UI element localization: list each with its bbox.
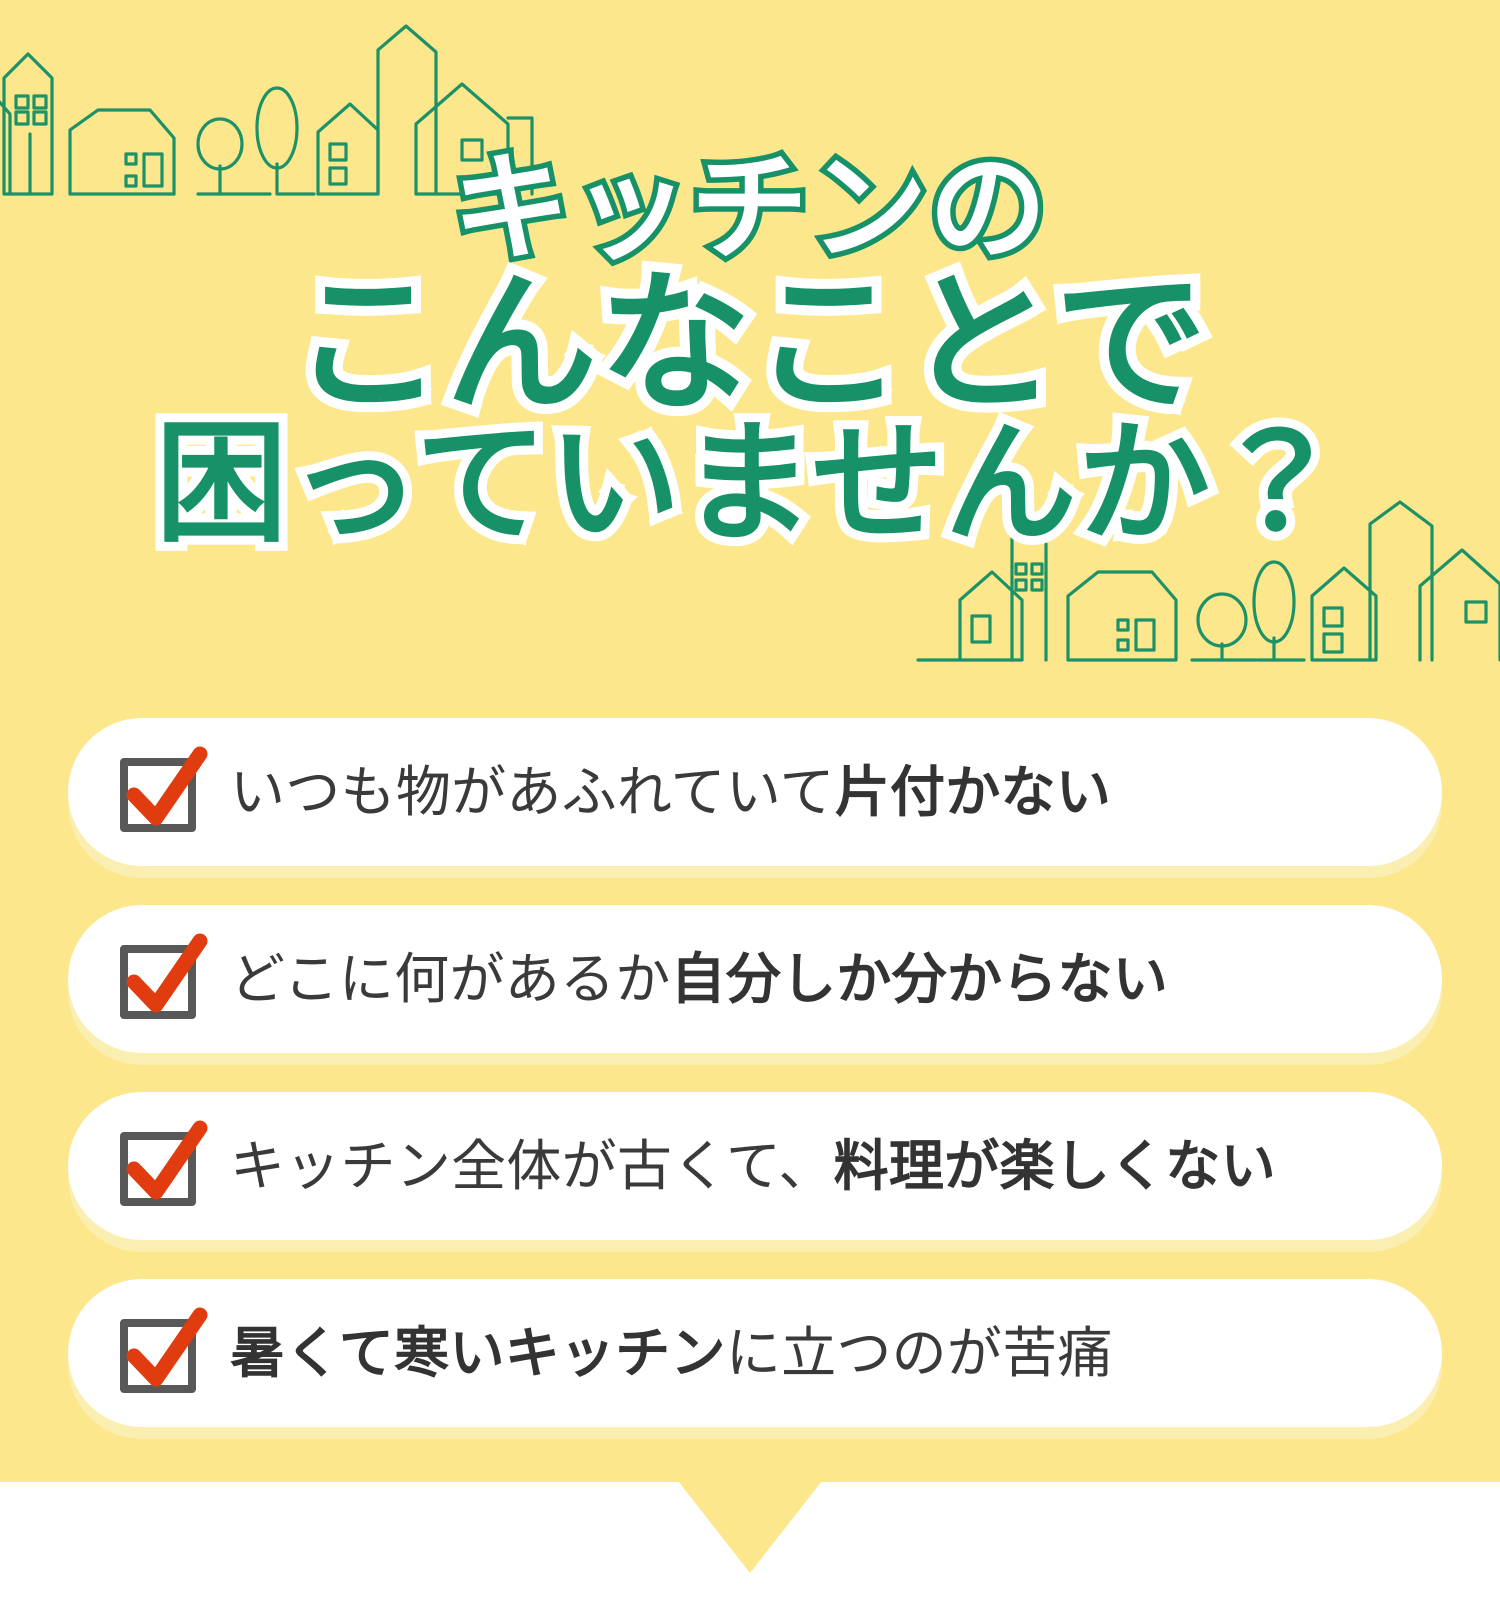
headline-line-2: こんなことで xyxy=(0,268,1500,420)
list-item[interactable]: 暑くて寒いキッチンに立つのが苦痛 xyxy=(68,1279,1442,1427)
headline-line-3: 困っていませんか？ xyxy=(0,418,1500,550)
promo-banner: キッチンの こんなことで 困っていませんか？ いつも物があふれていて片付かない … xyxy=(0,0,1500,1600)
list-item-text-plain-after: に立つのが苦痛 xyxy=(726,1322,1113,1384)
checked-checkbox-icon xyxy=(114,746,206,838)
list-item-text: いつも物があふれていて片付かない xyxy=(230,762,1111,823)
list-item-text: 暑くて寒いキッチンに立つのが苦痛 xyxy=(230,1323,1113,1384)
list-item-text-plain-before: どこに何があるか xyxy=(230,948,671,1010)
down-arrow-notch xyxy=(678,1481,822,1573)
list-item-text: キッチン全体が古くて、料理が楽しくない xyxy=(230,1136,1276,1197)
list-item-text-plain-before: いつも物があふれていて xyxy=(230,761,835,823)
list-item-text-emphasis: 暑くて寒いキッチン xyxy=(230,1322,726,1384)
checked-checkbox-icon xyxy=(114,1307,206,1399)
headline-line-1: キッチンの xyxy=(0,150,1500,268)
list-item-text-emphasis: 片付かない xyxy=(835,761,1111,823)
list-item[interactable]: いつも物があふれていて片付かない xyxy=(68,718,1442,866)
headline-block: キッチンの こんなことで 困っていませんか？ xyxy=(0,150,1500,550)
list-item[interactable]: どこに何があるか自分しか分からない xyxy=(68,905,1442,1053)
list-item[interactable]: キッチン全体が古くて、料理が楽しくない xyxy=(68,1092,1442,1240)
list-item-text: どこに何があるか自分しか分からない xyxy=(230,949,1168,1010)
pain-point-checklist: いつも物があふれていて片付かない どこに何があるか自分しか分からない キッチン全… xyxy=(68,718,1442,1427)
list-item-text-emphasis: 料理が楽しくない xyxy=(834,1135,1276,1197)
list-item-text-plain-before: キッチン全体が古くて、 xyxy=(230,1135,834,1197)
checked-checkbox-icon xyxy=(114,1120,206,1212)
list-item-text-emphasis: 自分しか分からない xyxy=(671,948,1168,1010)
checked-checkbox-icon xyxy=(114,933,206,1025)
